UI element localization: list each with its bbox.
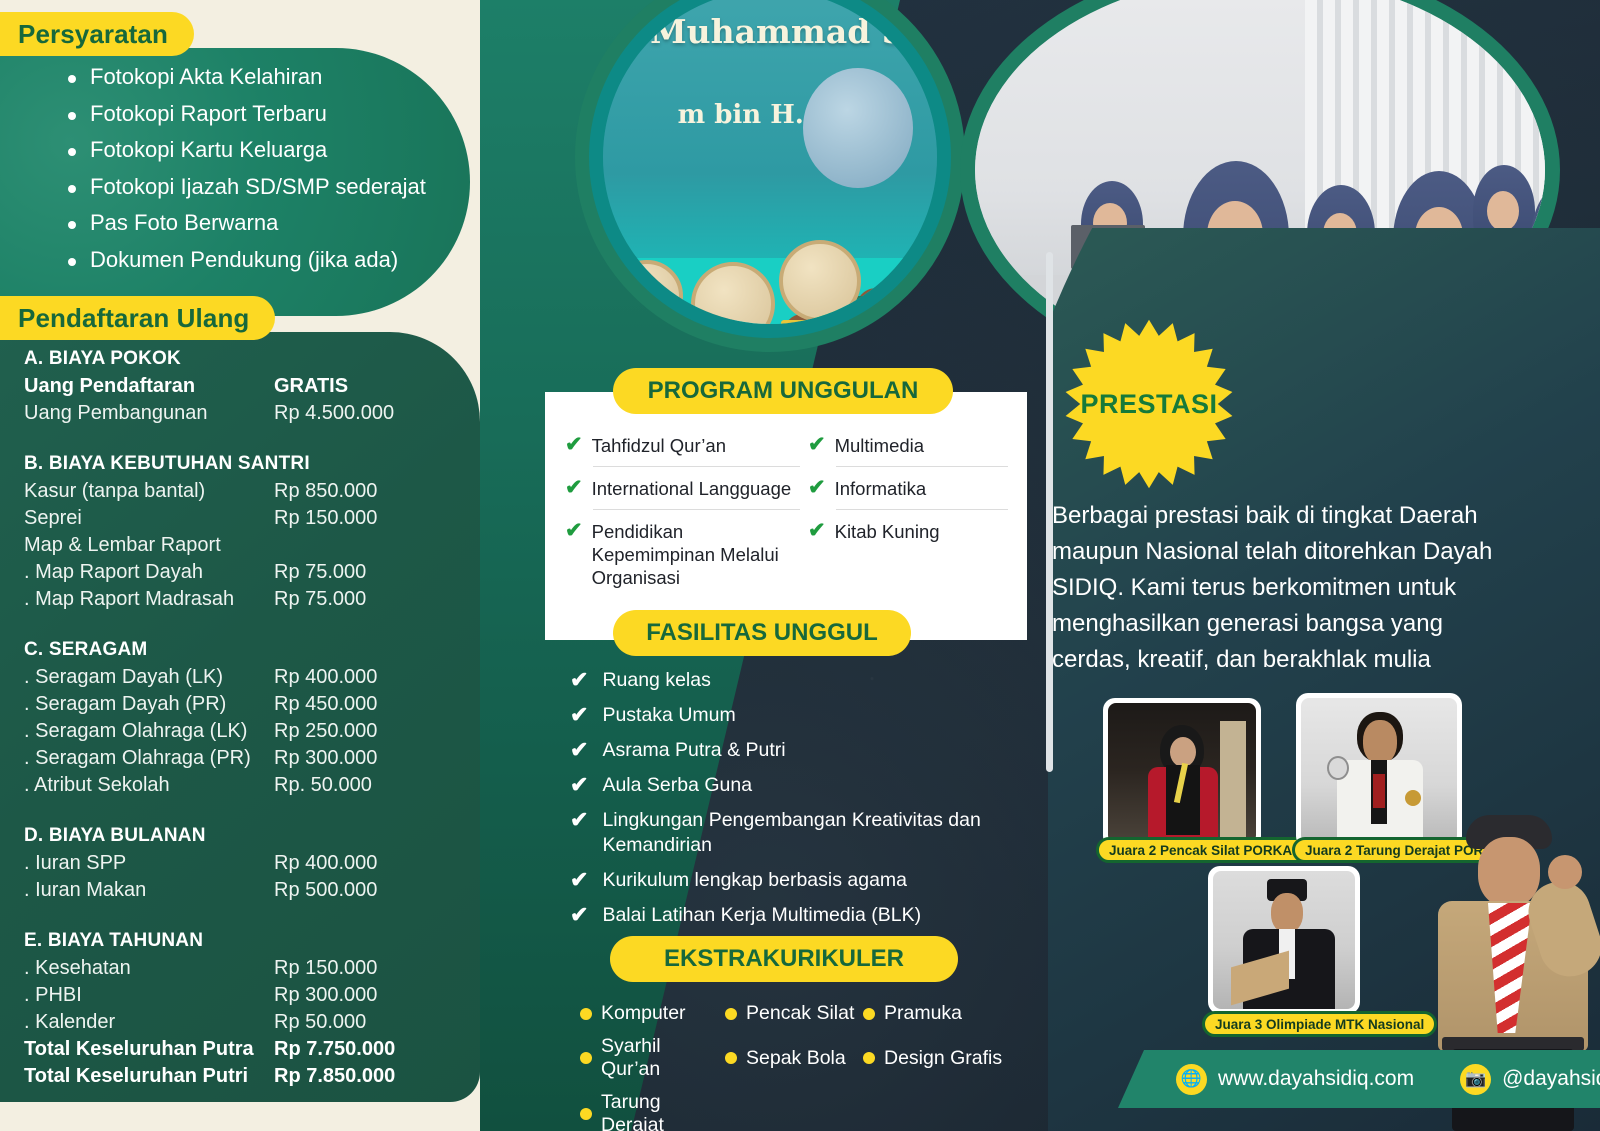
fee-row: . Seragam Olahraga (PR)Rp 300.000 <box>24 745 424 772</box>
fee-value: Rp 400.000 <box>274 850 424 877</box>
extracurricular-label: Syarhil Qur’an <box>601 1035 725 1081</box>
fee-value: Rp 150.000 <box>274 955 424 982</box>
fee-label: . Seragam Dayah (PR) <box>24 691 274 718</box>
check-icon: ✔ <box>808 477 826 499</box>
fee-label: . PHBI <box>24 982 274 1009</box>
fee-label: . Kalender <box>24 1009 274 1036</box>
program-title: PROGRAM UNGGULAN <box>613 368 953 414</box>
fee-value: Rp 300.000 <box>274 982 424 1009</box>
bullet-dot-icon <box>580 1108 592 1120</box>
bullet-dot-icon <box>725 1052 737 1064</box>
facility-item: ✔Kurikulum lengkap berbasis agama <box>570 868 1030 893</box>
saluting-hand <box>1548 855 1582 889</box>
fee-label: Total Keseluruhan Putri <box>24 1063 274 1090</box>
fee-row: . Map Raport DayahRp 75.000 <box>24 559 424 586</box>
requirement-item: Dokumen Pendukung (jika ada) <box>34 249 464 271</box>
website-link[interactable]: 🌐 www.dayahsidiq.com <box>1176 1064 1414 1095</box>
fee-row: . Map Raport MadrasahRp 75.000 <box>24 586 424 613</box>
fee-row: . Iuran SPPRp 400.000 <box>24 850 424 877</box>
requirements-badge: Persyaratan <box>0 12 194 56</box>
requirement-item: Fotokopi Akta Kelahiran <box>34 66 464 88</box>
face <box>1478 837 1540 907</box>
requirement-item: Fotokopi Raport Terbaru <box>34 103 464 125</box>
poster-root: Persyaratan Fotokopi Akta KelahiranFotok… <box>0 0 1600 1131</box>
fee-section-gap <box>24 799 424 825</box>
extracurricular-label: Sepak Bola <box>746 1047 846 1070</box>
facility-label: Pustaka Umum <box>602 703 735 728</box>
fee-value: Rp 400.000 <box>274 664 424 691</box>
check-icon: ✔ <box>565 520 583 542</box>
extracurricular-item: Syarhil Qur’an <box>580 1035 725 1081</box>
fee-label: Kasur (tanpa bantal) <box>24 478 274 505</box>
fee-section-heading: C. SERAGAM <box>24 639 424 661</box>
fee-value: Rp 300.000 <box>274 745 424 772</box>
website-label: www.dayahsidiq.com <box>1218 1067 1414 1091</box>
extracurricular-row: KomputerPencak SilatPramuka <box>580 1002 1050 1025</box>
extracurricular-label: Design Grafis <box>884 1047 1002 1070</box>
fee-value: Rp 450.000 <box>274 691 424 718</box>
fee-label: . Atribut Sekolah <box>24 772 274 799</box>
fee-row: SepreiRp 150.000 <box>24 505 424 532</box>
fee-row: . PHBIRp 300.000 <box>24 982 424 1009</box>
fee-row: Total Keseluruhan PutriRp 7.850.000 <box>24 1063 424 1090</box>
bullet-dot-icon <box>863 1052 875 1064</box>
achievement-caption: Juara 3 Olimpiade MTK Nasional <box>1202 1011 1437 1037</box>
program-divider <box>836 509 1008 510</box>
check-icon: ✔ <box>565 477 583 499</box>
extracurricular-row: Tarung Derajat <box>580 1091 1050 1131</box>
check-icon: ✔ <box>570 703 588 727</box>
check-icon: ✔ <box>565 434 583 456</box>
fee-value: Rp 7.750.000 <box>274 1036 424 1063</box>
facility-item: ✔Ruang kelas <box>570 668 1030 693</box>
instagram-icon: 📷 <box>1460 1064 1491 1095</box>
banner-portrait <box>803 68 913 188</box>
extracurricular-item: Design Grafis <box>863 1035 1002 1081</box>
facility-label: Asrama Putra & Putri <box>602 738 785 763</box>
extracurricular-item: Pencak Silat <box>725 1002 863 1025</box>
fee-label: Total Keseluruhan Putra <box>24 1036 274 1063</box>
extracurricular-label: Komputer <box>601 1002 686 1025</box>
facility-label: Kurikulum lengkap berbasis agama <box>602 868 907 893</box>
fee-row: Uang PendaftaranGRATIS <box>24 373 424 400</box>
extracurricular-item: Komputer <box>580 1002 725 1025</box>
prestasi-badge-label: PRESTASI <box>1063 318 1235 490</box>
fee-value: Rp 75.000 <box>274 586 424 613</box>
fee-row: Map & Lembar Raport <box>24 532 424 559</box>
drum-performance-photo: bi Muhammad SAW m bin H. A A <box>575 0 965 352</box>
fee-label: Map & Lembar Raport <box>24 532 274 559</box>
program-divider <box>593 466 800 467</box>
fee-row: . Iuran MakanRp 500.000 <box>24 877 424 904</box>
achievement-photo <box>1103 698 1261 848</box>
fee-label: . Iuran SPP <box>24 850 274 877</box>
check-icon: ✔ <box>570 773 588 797</box>
bullet-dot-icon <box>725 1008 737 1020</box>
check-icon: ✔ <box>570 668 588 692</box>
fee-value: Rp. 50.000 <box>274 772 424 799</box>
facility-label: Lingkungan Pengembangan Kreativitas dan … <box>602 808 1030 858</box>
program-item-label: Kitab Kuning <box>835 520 940 543</box>
extracurricular-item: Pramuka <box>863 1002 962 1025</box>
footer-contact-bar: 🌐 www.dayahsidiq.com 📷 @dayahsidiq <box>1118 1050 1600 1108</box>
prestasi-description: Berbagai prestasi baik di tingkat Daerah… <box>1052 498 1514 678</box>
facility-item: ✔Pustaka Umum <box>570 703 1030 728</box>
facility-label: Balai Latihan Kerja Multimedia (BLK) <box>602 903 921 928</box>
fee-value: Rp 4.500.000 <box>274 400 424 427</box>
instagram-label: @dayahsidiq <box>1502 1067 1600 1091</box>
fee-section-heading: A. BIAYA POKOK <box>24 348 424 370</box>
fee-section-heading: D. BIAYA BULANAN <box>24 825 424 847</box>
fees-table: A. BIAYA POKOKUang PendaftaranGRATISUang… <box>24 348 424 1090</box>
fee-row: Uang PembangunanRp 4.500.000 <box>24 400 424 427</box>
extracurricular-row: Syarhil Qur’anSepak BolaDesign Grafis <box>580 1035 1050 1081</box>
program-item: ✔Multimedia <box>808 434 1008 464</box>
program-item: ✔Informatika <box>808 477 1008 507</box>
check-icon: ✔ <box>808 520 826 542</box>
extracurricular-grid: KomputerPencak SilatPramukaSyarhil Qur’a… <box>580 1002 1050 1131</box>
achievement-photo <box>1208 866 1360 1014</box>
program-column-right: ✔Multimedia✔Informatika✔Kitab Kuning <box>808 434 1008 550</box>
check-icon: ✔ <box>808 434 826 456</box>
bullet-dot-icon <box>863 1008 875 1020</box>
fee-row: Total Keseluruhan PutraRp 7.750.000 <box>24 1036 424 1063</box>
fee-section-gap <box>24 427 424 453</box>
fee-label: Uang Pembangunan <box>24 400 274 427</box>
fee-label: . Map Raport Madrasah <box>24 586 274 613</box>
facility-item: ✔Aula Serba Guna <box>570 773 1030 798</box>
bullet-dot-icon <box>580 1052 592 1064</box>
extracurricular-label: Tarung Derajat <box>601 1091 725 1131</box>
globe-icon: 🌐 <box>1176 1064 1207 1095</box>
fee-value: Rp 150.000 <box>274 505 424 532</box>
program-item: ✔Tahfidzul Qur’an <box>565 434 800 464</box>
fee-value: Rp 500.000 <box>274 877 424 904</box>
fee-label: . Iuran Makan <box>24 877 274 904</box>
fee-label: . Map Raport Dayah <box>24 559 274 586</box>
requirement-item: Fotokopi Kartu Keluarga <box>34 139 464 161</box>
facilities-title: FASILITAS UNGGUL <box>613 610 911 656</box>
extracurricular-title: EKSTRAKURIKULER <box>610 936 958 982</box>
check-icon: ✔ <box>570 868 588 892</box>
program-item: ✔Pendidikan Kepemimpinan Melalui Organis… <box>565 520 800 596</box>
fee-row: . Seragam Dayah (LK)Rp 400.000 <box>24 664 424 691</box>
fee-row: . Atribut SekolahRp. 50.000 <box>24 772 424 799</box>
fee-value: Rp 50.000 <box>274 1009 424 1036</box>
fee-row: . KalenderRp 50.000 <box>24 1009 424 1036</box>
fee-value: GRATIS <box>274 373 424 400</box>
fee-value: Rp 75.000 <box>274 559 424 586</box>
fee-label: . Seragam Olahraga (PR) <box>24 745 274 772</box>
facility-label: Ruang kelas <box>602 668 710 693</box>
facilities-list: ✔Ruang kelas✔Pustaka Umum✔Asrama Putra &… <box>570 668 1030 938</box>
program-item-label: Tahfidzul Qur’an <box>592 434 726 457</box>
achievement-caption: Juara 2 Pencak Silat PORKAB <box>1096 837 1315 863</box>
fee-label: Uang Pendaftaran <box>24 373 274 400</box>
facility-item: ✔Balai Latihan Kerja Multimedia (BLK) <box>570 903 1030 928</box>
fee-label: . Seragam Dayah (LK) <box>24 664 274 691</box>
reregistration-badge: Pendaftaran Ulang <box>0 296 275 340</box>
facility-label: Aula Serba Guna <box>602 773 752 798</box>
fee-section-gap <box>24 904 424 930</box>
extracurricular-label: Pencak Silat <box>746 1002 854 1025</box>
program-divider <box>836 466 1008 467</box>
program-item: ✔International Langguage <box>565 477 800 507</box>
fee-value: Rp 7.850.000 <box>274 1063 424 1090</box>
program-divider <box>593 509 800 510</box>
check-icon: ✔ <box>570 903 588 927</box>
program-item-label: International Langguage <box>592 477 792 500</box>
extracurricular-item: Sepak Bola <box>725 1035 863 1081</box>
fee-section-heading: B. BIAYA KEBUTUHAN SANTRI <box>24 453 424 475</box>
check-icon: ✔ <box>570 738 588 762</box>
program-item-label: Multimedia <box>835 434 924 457</box>
banner-text-line1: bi Muhammad SAW <box>603 12 937 51</box>
fee-label: . Kesehatan <box>24 955 274 982</box>
check-icon: ✔ <box>570 808 588 832</box>
requirement-item: Pas Foto Berwarna <box>34 212 464 234</box>
fee-value: Rp 250.000 <box>274 718 424 745</box>
fee-value: Rp 850.000 <box>274 478 424 505</box>
extracurricular-label: Pramuka <box>884 1002 962 1025</box>
extracurricular-item: Tarung Derajat <box>580 1091 725 1131</box>
requirement-item: Fotokopi Ijazah SD/SMP sederajat <box>34 176 464 198</box>
fee-value <box>274 532 424 559</box>
program-column-left: ✔Tahfidzul Qur’an✔International Langguag… <box>565 434 800 596</box>
fee-row: . KesehatanRp 150.000 <box>24 955 424 982</box>
fee-label: Seprei <box>24 505 274 532</box>
facility-item: ✔Lingkungan Pengembangan Kreativitas dan… <box>570 808 1030 858</box>
bullet-dot-icon <box>580 1008 592 1020</box>
fee-section-gap <box>24 613 424 639</box>
fee-label: . Seragam Olahraga (LK) <box>24 718 274 745</box>
fee-row: Kasur (tanpa bantal)Rp 850.000 <box>24 478 424 505</box>
fee-row: . Seragam Olahraga (LK)Rp 250.000 <box>24 718 424 745</box>
requirements-list: Fotokopi Akta KelahiranFotokopi Raport T… <box>34 66 464 285</box>
fee-section-heading: E. BIAYA TAHUNAN <box>24 930 424 952</box>
instagram-link[interactable]: 📷 @dayahsidiq <box>1460 1064 1600 1095</box>
program-item-label: Pendidikan Kepemimpinan Melalui Organisa… <box>592 520 800 589</box>
fee-row: . Seragam Dayah (PR)Rp 450.000 <box>24 691 424 718</box>
program-item: ✔Kitab Kuning <box>808 520 1008 550</box>
program-item-label: Informatika <box>835 477 927 500</box>
facility-item: ✔Asrama Putra & Putri <box>570 738 1030 763</box>
rebana-drum <box>779 240 861 322</box>
